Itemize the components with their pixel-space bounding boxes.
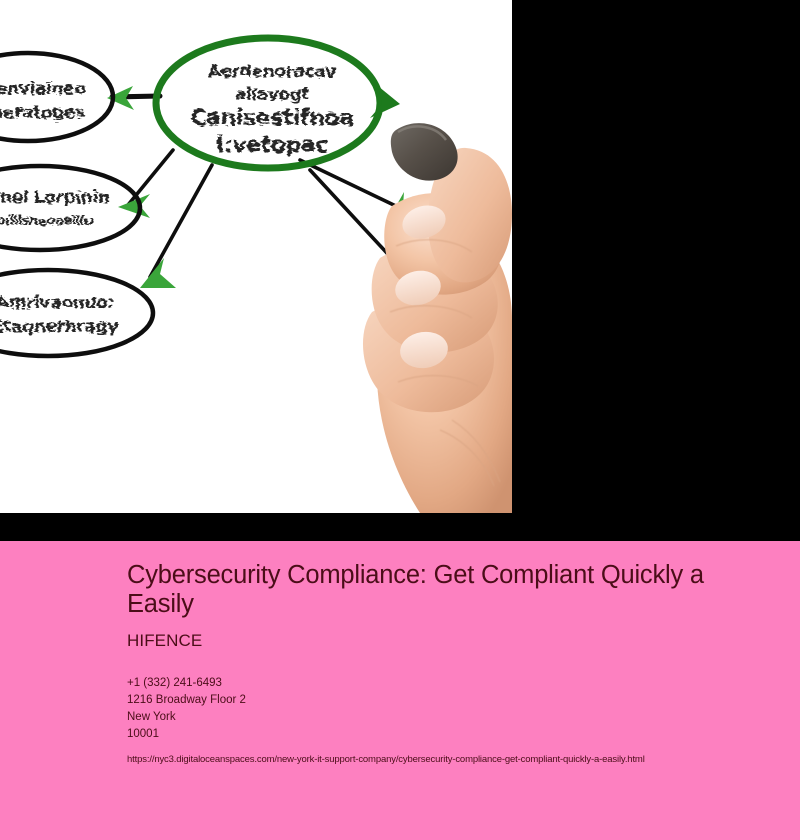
- center-line-3: Canisestifnoa: [190, 106, 353, 131]
- contact-block: +1 (332) 241-6493 1216 Broadway Floor 2 …: [127, 675, 767, 743]
- center-line-2: allavogt: [235, 85, 310, 105]
- contact-city: New York: [127, 709, 767, 726]
- center-line-4: I:vetopac: [216, 133, 328, 158]
- center-line-1: Aerdenoracav: [208, 62, 337, 82]
- page-title: Cybersecurity Compliance: Get Compliant …: [127, 561, 752, 618]
- node-bl-line-2: Etaqnerhragy: [0, 317, 118, 337]
- node-bl-line-1: Amrivaonuo:: [0, 293, 114, 313]
- black-letterbox-right: [512, 0, 800, 513]
- brand-name: HIFENCE: [127, 631, 767, 651]
- contact-phone: +1 (332) 241-6493: [127, 675, 767, 692]
- source-url-text[interactable]: https://nyc3.digitaloceanspaces.com/new-…: [127, 753, 767, 766]
- node-ml-line-2: oilllsneoaeiliu: [0, 214, 93, 229]
- node-tl-line-1: lenviaineo: [0, 79, 85, 99]
- contact-street: 1216 Broadway Floor 2: [127, 692, 767, 709]
- node-tl-line-2: heratoges: [0, 103, 85, 123]
- node-ml-line-1: urnel Lorpinin: [0, 188, 110, 208]
- contact-zip: 10001: [127, 726, 767, 743]
- whiteboard-diagram: Aerdenoracav allavogt Canisestifnoa I:ve…: [0, 0, 512, 513]
- hero-image: Aerdenoracav allavogt Canisestifnoa I:ve…: [0, 0, 512, 513]
- page-root: Aerdenoracav allavogt Canisestifnoa I:ve…: [0, 0, 800, 840]
- content-panel: Cybersecurity Compliance: Get Compliant …: [0, 541, 800, 840]
- black-letterbox-bottom: [0, 513, 800, 541]
